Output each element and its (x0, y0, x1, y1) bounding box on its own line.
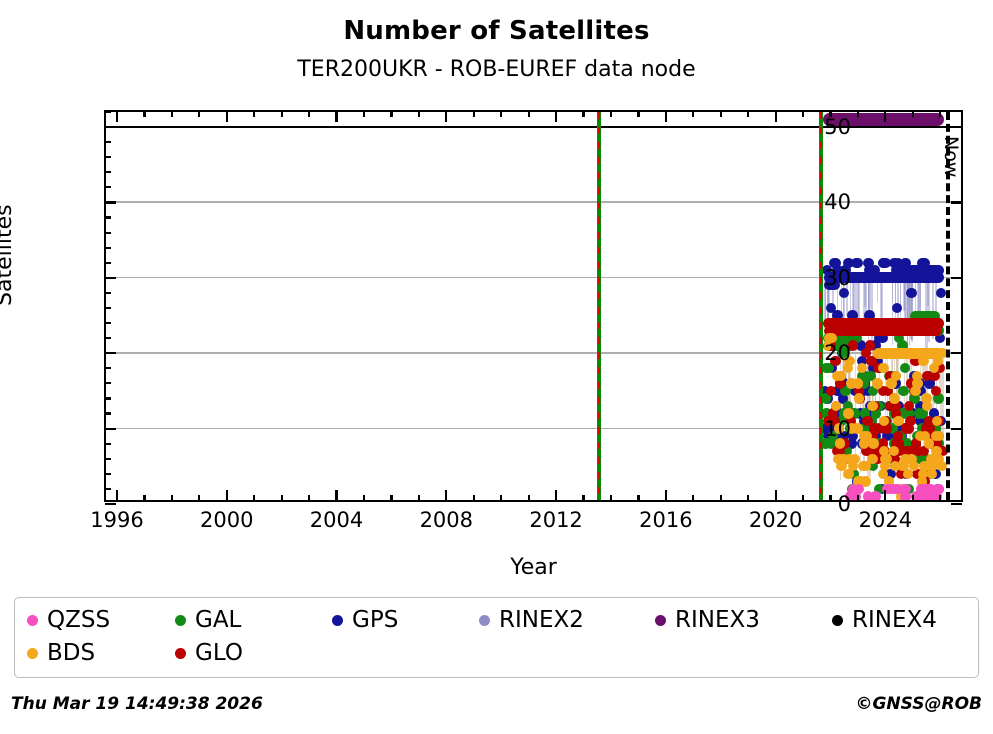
y-tick-minor-24 (105, 322, 111, 324)
y-tick-right-30 (951, 277, 962, 279)
x-tick-2002 (281, 495, 283, 501)
y-tick-minor-14 (105, 397, 111, 399)
legend-label-gal: GAL (195, 607, 241, 633)
x-tick-top-1999 (198, 111, 200, 117)
legend-marker-rinex3-icon (655, 615, 666, 626)
y-tick-0 (105, 503, 116, 505)
x-tick-top-2020 (775, 111, 777, 122)
x-tick-top-2023 (857, 111, 859, 117)
y-tick-minor-42 (105, 186, 111, 188)
x-tick-1997 (143, 495, 145, 501)
x-tick-2010 (500, 495, 502, 501)
y-tick-minor-6 (105, 458, 111, 460)
x-tick-label-2024: 2024 (859, 508, 912, 532)
x-tick-2007 (418, 495, 420, 501)
data-point-bds (921, 393, 931, 403)
legend-marker-rinex4-icon (832, 615, 843, 626)
x-tick-top-2007 (418, 111, 420, 117)
y-tick-label-10: 10 (791, 417, 851, 441)
y-tick-minor-48 (105, 141, 111, 143)
x-tick-2005 (363, 495, 365, 501)
y-tick-right-0 (951, 503, 962, 505)
y-tick-minor-18 (105, 367, 111, 369)
legend-label-qzss: QZSS (47, 607, 110, 633)
x-tick-top-2003 (308, 111, 310, 117)
y-tick-minor-38 (105, 216, 111, 218)
y-tick-10 (105, 428, 116, 430)
x-tick-top-2010 (500, 111, 502, 117)
plot-area: Now1996200020042008201220162020202401020… (104, 110, 963, 502)
y-tick-minor-36 (105, 232, 111, 234)
x-tick-2019 (747, 495, 749, 501)
x-tick-2020 (775, 490, 777, 501)
x-tick-2003 (308, 495, 310, 501)
data-point-bds (872, 378, 882, 388)
x-tick-1999 (198, 495, 200, 501)
x-tick-top-2012 (555, 111, 557, 122)
y-tick-minor-32 (105, 262, 111, 264)
y-tick-40 (105, 201, 116, 203)
x-tick-2014 (610, 495, 612, 501)
y-tick-minor-8 (105, 443, 111, 445)
y-tick-minor-4 (105, 473, 111, 475)
y-tick-right-10 (951, 428, 962, 430)
x-tick-label-2000: 2000 (200, 508, 253, 532)
legend-entry-rinex3[interactable]: RINEX3 (655, 607, 760, 633)
y-tick-label-20: 20 (791, 341, 851, 365)
data-point-qzss (916, 491, 926, 500)
data-point-bds (910, 386, 920, 396)
x-tick-2013 (582, 495, 584, 501)
x-tick-top-2004 (335, 111, 337, 122)
data-point-bds (893, 416, 903, 426)
y-tick-minor-28 (105, 292, 111, 294)
page-title: Number of Satellites (0, 16, 993, 46)
y-tick-minor-12 (105, 412, 111, 414)
legend-label-rinex4: RINEX4 (852, 607, 937, 633)
footer-copyright: ©GNSS@ROB (855, 694, 982, 714)
y-tick-minor-52 (105, 111, 111, 113)
data-point-bds (846, 378, 856, 388)
data-point-bds (838, 454, 848, 464)
data-point-gps (863, 258, 873, 268)
data-point-gps (936, 288, 946, 298)
x-tick-2004 (335, 490, 337, 501)
data-band-glo (824, 326, 941, 336)
x-tick-2018 (720, 495, 722, 501)
data-point-bds (889, 393, 899, 403)
y-tick-right-50 (951, 126, 962, 128)
x-tick-2011 (528, 495, 530, 501)
legend-label-bds: BDS (47, 640, 95, 666)
x-tick-top-2002 (281, 111, 283, 117)
x-tick-1996 (116, 490, 118, 501)
y-tick-minor-44 (105, 171, 111, 173)
legend-entry-bds[interactable]: BDS (27, 640, 95, 666)
x-tick-top-1996 (116, 111, 118, 122)
legend-label-rinex3: RINEX3 (675, 607, 760, 633)
legend-label-glo: GLO (195, 640, 243, 666)
legend-entry-rinex4[interactable]: RINEX4 (832, 607, 937, 633)
legend-row (27, 638, 978, 669)
chart-page: Number of Satellites TER200UKR - ROB-EUR… (0, 0, 993, 734)
x-tick-top-2019 (747, 111, 749, 117)
legend-label-gps: GPS (352, 607, 398, 633)
x-tick-label-2012: 2012 (529, 508, 582, 532)
y-tick-minor-26 (105, 307, 111, 309)
data-point-gps (852, 258, 862, 268)
data-point-bds (867, 454, 877, 464)
x-tick-top-2006 (390, 111, 392, 117)
legend-entry-gal[interactable]: GAL (175, 607, 241, 633)
x-tick-label-2008: 2008 (420, 508, 473, 532)
legend-marker-glo-icon (175, 648, 186, 659)
legend-entry-glo[interactable]: GLO (175, 640, 243, 666)
data-point-bds (854, 393, 864, 403)
x-tick-2025 (912, 495, 914, 501)
x-tick-2012 (555, 490, 557, 501)
x-axis-label: Year (104, 555, 963, 580)
legend-label-rinex2: RINEX2 (499, 607, 584, 633)
x-tick-top-2017 (692, 111, 694, 117)
legend-entry-gps[interactable]: GPS (332, 607, 398, 633)
x-tick-top-2000 (226, 111, 228, 122)
legend-marker-gal-icon (175, 615, 186, 626)
y-tick-50 (105, 126, 116, 128)
y-tick-minor-34 (105, 247, 111, 249)
x-tick-top-2024 (884, 111, 886, 122)
x-tick-2015 (637, 495, 639, 501)
data-point-gps (917, 258, 927, 268)
data-point-gps (906, 288, 916, 298)
data-point-bds (836, 371, 846, 381)
data-point-glo (901, 423, 911, 433)
data-point-bds (927, 461, 937, 471)
chart-subtitle: TER200UKR - ROB-EUREF data node (0, 57, 993, 82)
y-tick-minor-46 (105, 156, 111, 158)
y-tick-right-20 (951, 352, 962, 354)
legend-marker-bds-icon (27, 648, 38, 659)
data-point-gps (889, 258, 899, 268)
legend-marker-qzss-icon (27, 615, 38, 626)
x-tick-2024 (884, 490, 886, 501)
data-point-bds (912, 371, 922, 381)
y-tick-label-0: 0 (791, 492, 851, 516)
x-tick-2026 (939, 495, 941, 501)
now-label: Now (940, 136, 962, 177)
y-tick-30 (105, 277, 116, 279)
x-tick-top-1998 (171, 111, 173, 117)
x-tick-2017 (692, 495, 694, 501)
x-tick-2006 (390, 495, 392, 501)
legend-marker-gps-icon (332, 615, 343, 626)
x-tick-2009 (473, 495, 475, 501)
legend-entry-rinex2[interactable]: RINEX2 (479, 607, 584, 633)
x-tick-label-2016: 2016 (639, 508, 692, 532)
plot-clip (106, 112, 961, 500)
footer-timestamp: Thu Mar 19 14:49:38 2026 (11, 694, 263, 714)
data-point-gps (878, 258, 888, 268)
x-tick-top-2005 (363, 111, 365, 117)
y-tick-label-40: 40 (791, 190, 851, 214)
x-tick-1998 (171, 495, 173, 501)
x-tick-top-2015 (637, 111, 639, 117)
x-tick-2016 (665, 490, 667, 501)
x-tick-top-2014 (610, 111, 612, 117)
x-tick-2008 (445, 490, 447, 501)
data-point-bds (918, 356, 928, 366)
y-tick-right-40 (951, 201, 962, 203)
x-tick-top-2013 (582, 111, 584, 117)
x-tick-2001 (253, 495, 255, 501)
data-point-bds (843, 469, 853, 479)
y-tick-minor-16 (105, 382, 111, 384)
y-tick-minor-22 (105, 337, 111, 339)
y-tick-label-50: 50 (791, 115, 851, 139)
x-tick-top-1997 (143, 111, 145, 117)
x-tick-top-2016 (665, 111, 667, 122)
event-line-red-dashed-2 (820, 112, 822, 500)
y-tick-20 (105, 352, 116, 354)
data-point-bds (867, 401, 877, 411)
x-tick-top-2001 (253, 111, 255, 117)
x-tick-top-2025 (912, 111, 914, 117)
y-tick-label-30: 30 (791, 266, 851, 290)
legend-marker-rinex2-icon (479, 615, 490, 626)
data-point-bds (891, 371, 901, 381)
y-axis-label: Satellites (0, 204, 17, 306)
x-tick-2023 (857, 495, 859, 501)
x-tick-label-2004: 2004 (310, 508, 363, 532)
x-tick-top-2008 (445, 111, 447, 122)
y-tick-minor-2 (105, 488, 111, 490)
data-point-qzss (863, 491, 873, 500)
data-point-qzss (892, 484, 902, 494)
legend-entry-qzss[interactable]: QZSS (27, 607, 110, 633)
event-line-red-dashed-1 (598, 112, 600, 500)
x-tick-top-2011 (528, 111, 530, 117)
x-tick-top-2009 (473, 111, 475, 117)
x-tick-2000 (226, 490, 228, 501)
x-tick-label-1996: 1996 (90, 508, 143, 532)
legend: QZSSGALGPSRINEX2RINEX3RINEX4BDSGLO (14, 597, 979, 678)
x-tick-top-2026 (939, 111, 941, 117)
x-tick-top-2018 (720, 111, 722, 117)
